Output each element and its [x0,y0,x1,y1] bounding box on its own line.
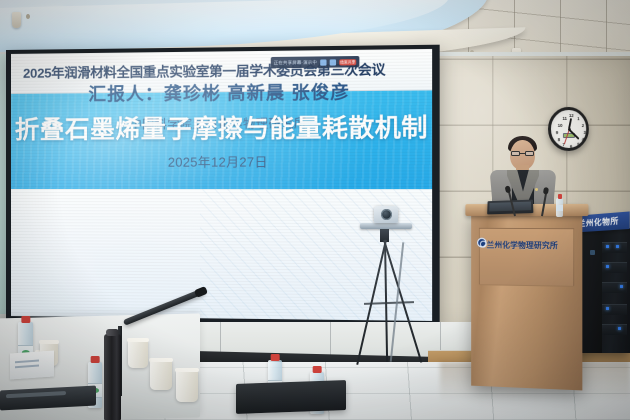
lectern-podium: 兰州化学物理研究所 [471,212,582,390]
institute-logo-icon [477,238,487,248]
rack-unit [599,324,627,335]
bottle-cap-icon [313,366,322,373]
share-status-label: 正在共享屏幕·演示中 [274,59,317,66]
status-led-icon [606,265,609,268]
status-led-icon [618,327,621,330]
paper-cup [128,340,148,368]
eyeglasses-icon [511,151,534,156]
clock-numeral: 1 [577,116,579,121]
slide-presenter-line: 汇报人：龚珍彬 高新晨 张俊彦 [11,78,432,107]
status-led-icon [620,285,623,288]
rack-unit [599,304,627,315]
document-tray [236,380,346,414]
clock-numeral: 4 [582,137,584,142]
status-led-icon [616,245,619,248]
clock-numeral: 10 [558,123,563,128]
bottle-cap-icon [91,356,100,363]
ceiling-speaker-icon [12,12,21,28]
clock-center-pin [568,127,571,130]
status-led-icon [606,245,609,248]
glasses-right-lens [525,151,534,156]
paper-cup [176,370,198,402]
podium-institute-label: 兰州化学物理研究所 [487,240,579,252]
clock-numeral: 6 [570,144,572,149]
document-sheet [10,350,54,379]
conference-room-photo: 12 1 2 3 4 5 6 7 8 9 10 11 2025年润滑材料全国重点… [0,0,630,420]
clock-numeral: 2 [582,123,584,128]
clock-numeral: 5 [577,142,579,147]
podium-front-panel [479,228,574,287]
slide-date-line: 2025年12月27日 [11,151,432,171]
nameplate-label: 兰州化物所 [578,215,619,229]
camera-tripod [352,206,426,371]
bottle-cap-icon [271,354,280,361]
rack-unit [599,242,627,253]
rack-door-latch-icon[interactable] [590,250,595,255]
tripod-spreader [364,301,414,305]
camera-lens-icon [381,209,392,220]
rack-unit [599,262,627,273]
screen-share-toolbar[interactable]: 正在共享屏幕·演示中 结束共享 [271,56,360,68]
glasses-left-lens [511,151,520,156]
paper-cup [150,360,172,390]
share-pause-icon[interactable] [320,59,326,65]
status-led-icon [606,307,609,310]
sprinkler-icon [26,14,30,19]
clock-numeral: 11 [562,116,567,121]
slide-main-title: 折叠石墨烯量子摩擦与能量耗散机制 [11,108,432,146]
podium-water-bottle [556,198,563,217]
lapel-badge-icon [535,188,538,191]
stop-share-button[interactable]: 结束共享 [339,59,356,65]
thermos-flask [104,334,121,420]
clock-numeral: 3 [584,130,586,135]
bottle-cap-icon [21,316,30,323]
share-annotate-icon[interactable] [330,59,336,65]
